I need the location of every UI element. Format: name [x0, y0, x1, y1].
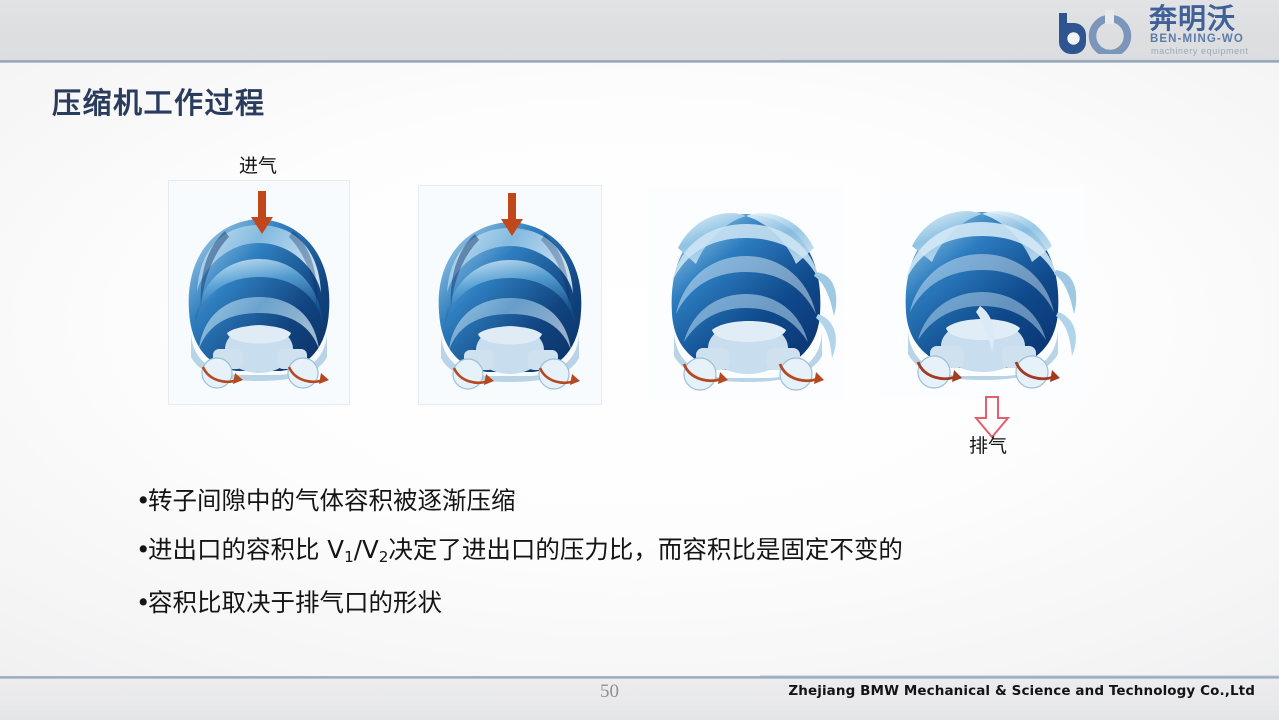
- logo-chinese-name: 奔明沃: [1149, 4, 1236, 34]
- bullet-marker: •: [136, 525, 147, 574]
- bullet-2-sub1: 1: [344, 548, 354, 566]
- bullet-text-2: 进出口的容积比 V1/V2决定了进出口的压力比，而容积比是固定不变的: [148, 525, 903, 578]
- bullet-2-suffix: 决定了进出口的压力比，而容积比是固定不变的: [388, 535, 903, 564]
- page-number: 50: [600, 681, 619, 703]
- intake-arrow-stage-1: [250, 191, 274, 235]
- logo-latin-name: BEN-MING-WO: [1150, 33, 1244, 45]
- header-divider-highlight: [780, 59, 1279, 60]
- bullet-marker: •: [136, 476, 147, 525]
- bullet-list: • 转子间隙中的气体容积被逐渐压缩 • 进出口的容积比 V1/V2决定了进出口的…: [136, 476, 1136, 627]
- logo-tagline: machinery equipment: [1151, 46, 1248, 56]
- rotor-figure-stage-3: [648, 186, 844, 400]
- rotor-figure-stage-4: [880, 186, 1084, 398]
- intake-arrow-stage-2: [500, 193, 524, 237]
- bullet-2-sub2: 2: [379, 548, 389, 566]
- company-footer-name: Zhejiang BMW Mechanical & Science and Te…: [788, 683, 1255, 699]
- bullet-2-mid: /V: [354, 535, 379, 564]
- bullet-item-2: • 进出口的容积比 V1/V2决定了进出口的压力比，而容积比是固定不变的: [136, 525, 1136, 578]
- intake-label: 进气: [239, 151, 277, 178]
- company-logo: 奔明沃 BEN-MING-WO machinery equipment: [1051, 2, 1271, 59]
- bullet-marker: •: [136, 578, 147, 627]
- bo-monogram-icon: [1055, 10, 1147, 54]
- exhaust-label: 排气: [969, 431, 1007, 458]
- bullet-item-1: • 转子间隙中的气体容积被逐渐压缩: [136, 476, 1136, 525]
- header-divider-line: [0, 60, 1279, 63]
- footer-divider-highlight: [760, 675, 1279, 676]
- bullet-2-prefix: 进出口的容积比 V: [148, 535, 344, 564]
- bullet-text-3: 容积比取决于排气口的形状: [148, 578, 442, 627]
- slide-canvas: 奔明沃 BEN-MING-WO machinery equipment 压缩机工…: [0, 0, 1279, 720]
- bullet-item-3: • 容积比取决于排气口的形状: [136, 578, 1136, 627]
- page-title: 压缩机工作过程: [52, 80, 266, 122]
- bullet-text-1: 转子间隙中的气体容积被逐渐压缩: [148, 476, 516, 525]
